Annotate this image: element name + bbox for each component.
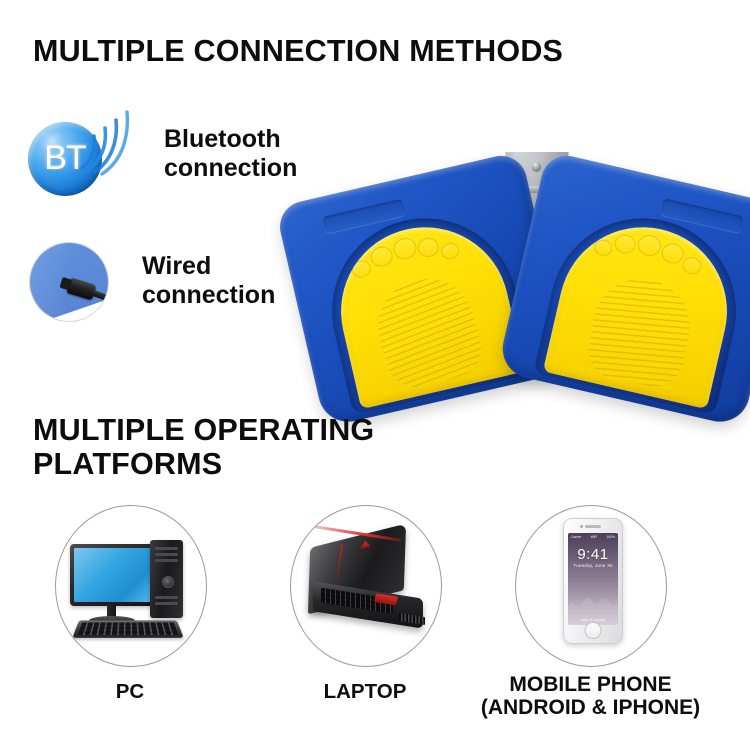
product-photo-dual-foot-pedal — [318, 152, 750, 387]
home-button-icon — [585, 622, 602, 639]
connection-methods-heading: MULTIPLE CONNECTION METHODS — [33, 34, 563, 68]
bluetooth-connection-label: Bluetooth connection — [164, 125, 297, 184]
lockscreen-time: 9:41 — [568, 546, 618, 563]
infographic-page: MULTIPLE CONNECTION METHODS BT Bluetooth… — [0, 0, 750, 750]
bluetooth-badge-label: BT — [44, 141, 85, 175]
toe-mark — [416, 236, 441, 259]
tower-vent — [155, 602, 178, 605]
laptop-vent — [399, 613, 425, 625]
keyboard — [72, 620, 183, 637]
earpiece-speaker — [585, 525, 601, 528]
power-button-icon — [162, 576, 174, 588]
desktop-tower — [150, 540, 183, 618]
tower-drive-bay — [155, 559, 178, 562]
toe-mark — [369, 244, 395, 268]
toe-mark — [350, 259, 372, 280]
status-carrier: Carrier — [571, 535, 581, 539]
sole-tread — [367, 268, 488, 394]
operating-platforms-heading: MULTIPLE OPERATING PLATFORMS — [33, 413, 374, 482]
laptop-logo-icon — [360, 539, 371, 549]
tower-drive-bay — [155, 547, 178, 550]
phone-body: Carrier WiFi 100% 9:41 Tuesday, June 30 … — [563, 518, 623, 644]
lockscreen-date: Tuesday, June 30 — [568, 563, 618, 568]
desktop-computer-icon — [55, 505, 207, 667]
toe-mark — [681, 255, 703, 276]
sole-tread — [584, 272, 697, 391]
usb-cable-icon — [29, 242, 109, 322]
tower-vent — [155, 596, 178, 599]
front-camera-icon — [580, 525, 583, 528]
toe-mark — [636, 233, 663, 259]
bracket-screw — [532, 162, 541, 171]
phone-screen: Carrier WiFi 100% 9:41 Tuesday, June 30 … — [568, 533, 618, 625]
toe-mark — [613, 232, 638, 255]
platform-item-laptop: LAPTOP — [290, 505, 440, 704]
wired-connection-row: Wired connection — [24, 240, 275, 322]
toe-mark — [593, 238, 614, 258]
bluetooth-badge-icon: BT — [24, 108, 132, 200]
monitor-screen — [74, 548, 154, 602]
bluetooth-circle: BT — [28, 122, 102, 196]
bluetooth-connection-row: BT Bluetooth connection — [24, 108, 297, 200]
monitor — [70, 544, 158, 606]
smartphone-icon: Carrier WiFi 100% 9:41 Tuesday, June 30 … — [515, 505, 667, 667]
platform-label-laptop: LAPTOP — [290, 681, 440, 704]
status-battery: 100% — [606, 535, 615, 539]
platform-item-pc: PC — [55, 505, 205, 704]
toe-mark — [660, 241, 686, 265]
tower-drive-bay — [155, 553, 178, 556]
toe-mark — [391, 236, 418, 262]
wired-connection-label: Wired connection — [142, 252, 275, 311]
phone-status-bar: Carrier WiFi 100% — [571, 534, 615, 540]
platform-label-pc: PC — [55, 681, 205, 704]
platform-item-mobile-phone: Carrier WiFi 100% 9:41 Tuesday, June 30 … — [515, 505, 665, 719]
status-wifi: WiFi — [590, 535, 597, 539]
laptop-icon — [290, 505, 442, 667]
toe-mark — [440, 241, 461, 261]
platform-label-mobile-phone: MOBILE PHONE (ANDROID & IPHONE) — [473, 673, 708, 719]
